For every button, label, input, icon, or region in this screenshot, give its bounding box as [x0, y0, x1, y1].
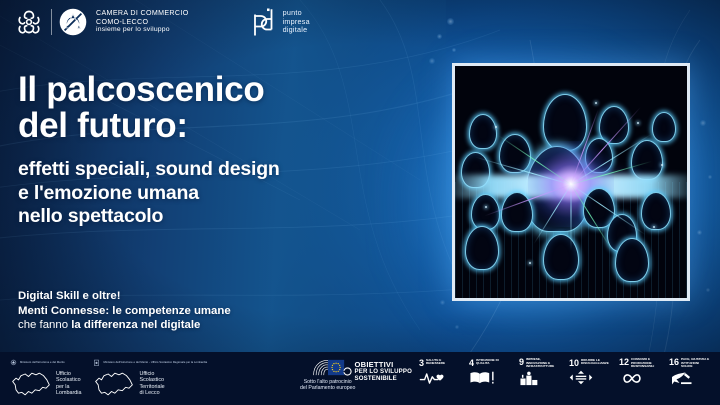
sdg-goal-3-title: SALUTE E BENESSERE [426, 359, 456, 366]
light-beam [571, 185, 572, 251]
silhouette-head [465, 226, 499, 270]
cciaa-line-3: insieme per lo sviluppo [96, 26, 189, 35]
usr-lecco-ministry-row: Ministero dell'Istruzione e del Merito -… [93, 359, 207, 368]
tagline-line-2: Menti Connesse: le competenze umane [18, 304, 231, 319]
usr-lecco-label: Ufficio Scolastico Territoriale di Lecco [139, 371, 164, 397]
tagline-block: Digital Skill e oltre! Menti Connesse: l… [18, 289, 231, 333]
usr-lombardia-body: Ufficio Scolastico per la Lombardia [10, 369, 81, 399]
sdg-goal-10-number: 10 [569, 359, 579, 368]
sdg-wordmark: OBIETTIVI PER LO SVILUPPO SOSTENIBILE [343, 361, 412, 382]
usr-lecco-label-4: di Lecco [139, 390, 164, 396]
tagline-line-3: che fanno la differenza nel digitale [18, 318, 231, 333]
connected-minds-artwork [452, 63, 690, 301]
cciaa-line-1: CAMERA DI COMMERCIO [96, 9, 189, 17]
usr-lombardia-label-4: Lombardia [56, 390, 81, 396]
footer-bar: Ministero dell'Istruzione e del Merito U… [0, 352, 720, 405]
sdg-goal-4-title: ISTRUZIONE DI QUALITA [476, 359, 506, 366]
footer-left-logos: Ministero dell'Istruzione e del Merito U… [0, 359, 207, 399]
silhouette-head [543, 234, 579, 280]
silhouette-head [469, 114, 497, 149]
open-book-icon [469, 370, 495, 385]
tagline-line-3-bold: la differenza nel digitale [71, 319, 200, 331]
sdg-goal-4: 4 ISTRUZIONE DI QUALITA [469, 359, 512, 385]
sdg-wordmark-text: OBIETTIVI PER LO SVILUPPO SOSTENIBILE [355, 361, 412, 382]
equals-arrows-icon [569, 370, 593, 385]
sdg-goal-16-title: PACE, GIUSTIZIA E ISTITUZIONI SOLIDE [681, 358, 711, 369]
punto-impresa-digitale-logo: punto impresa digitale [251, 7, 310, 37]
title-line-2: del futuro: [18, 108, 438, 144]
subtitle-line-3: nello spettacolo [18, 205, 438, 229]
sdg-word-3: SOSTENIBILE [355, 375, 412, 382]
sdg-goal-4-number: 4 [469, 359, 474, 368]
usr-lombardia-label-2: Scolastico [56, 377, 81, 383]
silhouette-head [615, 238, 649, 282]
sdg-word-1: OBIETTIVI [355, 361, 412, 368]
usr-lecco-label-3: Territoriale [139, 384, 164, 390]
logo-divider [51, 9, 52, 35]
sdg-goal-10-title: RIDURRE LE DISUGUAGLIANZE [581, 359, 611, 366]
silhouette-head [501, 192, 533, 232]
european-parliament-logo-icon [311, 358, 345, 377]
sdg-goal-9: 9 IMPRESE, INNOVAZIONE E INFRASTRUTTURE [519, 358, 562, 386]
sdg-block: OBIETTIVI PER LO SVILUPPO SOSTENIBILE 3 … [343, 358, 712, 386]
sdg-goal-16: 16 PACE, GIUSTIZIA E ISTITUZIONI SOLIDE [669, 358, 712, 386]
sdg-goal-3-number: 3 [419, 359, 424, 368]
ufficio-scolastico-lecco-logo: Ministero dell'Istruzione e del Merito -… [93, 359, 207, 399]
silhouette-head [652, 112, 676, 142]
sdg-goal-9-number: 9 [519, 358, 524, 367]
pid-monogram-icon [251, 7, 277, 37]
sdg-circle-icon [343, 367, 352, 376]
usr-lecco-label-2: Scolastico [139, 377, 164, 383]
header-logos: CAMERA DI COMMERCIO COMO-LECCO insieme p… [14, 7, 310, 37]
ep-caption-line-2: del Parlamento europeo [300, 385, 355, 391]
cciaa-knot-icon [14, 7, 44, 37]
usr-lecco-body: Ufficio Scolastico Territoriale di Lecco [93, 369, 207, 399]
main-text-block: Il palcoscenico del futuro: effetti spec… [18, 72, 438, 229]
page-title: Il palcoscenico del futuro: [18, 72, 438, 144]
cciaa-line-2: COMO-LECCO [96, 18, 189, 26]
usr-lombardia-label: Ufficio Scolastico per la Lombardia [56, 371, 81, 397]
como-lecco-shield-icon [59, 8, 87, 36]
usr-lecco-ministry: Ministero dell'Istruzione e del Merito -… [103, 361, 207, 364]
sdg-goal-9-title: IMPRESE, INNOVAZIONE E INFRASTRUTTURE [526, 358, 556, 369]
tagline-line-1: Digital Skill e oltre! [18, 289, 231, 304]
infinity-icon [619, 371, 645, 386]
camera-di-commercio-text: CAMERA DI COMMERCIO COMO-LECCO insieme p… [94, 9, 189, 34]
title-line-1: Il palcoscenico [18, 72, 438, 108]
ufficio-scolastico-lombardia-logo: Ministero dell'Istruzione e del Merito U… [10, 359, 81, 399]
silhouette-head [641, 192, 671, 230]
sdg-goal-12-title: CONSUMO E PRODUZIONE RESPONSABILI [631, 358, 661, 369]
sdg-goal-10: 10 RIDURRE LE DISUGUAGLIANZE [569, 359, 612, 385]
sdg-word-2: PER LO SVILUPPO [355, 368, 412, 375]
subtitle-line-1: effetti speciali, sound design [18, 158, 438, 182]
camera-di-commercio-logo: CAMERA DI COMMERCIO COMO-LECCO insieme p… [14, 7, 189, 37]
usr-lombardia-ministry: Ministero dell'Istruzione e del Merito [20, 361, 65, 364]
pid-text: punto impresa digitale [283, 9, 310, 35]
sdg-goal-12-number: 12 [619, 358, 629, 367]
subtitle-line-2: e l'emozione umana [18, 182, 438, 206]
sdg-goal-16-number: 16 [669, 358, 679, 367]
artwork-canvas [455, 66, 687, 298]
sdg-goal-3: 3 SALUTE E BENESSERE [419, 359, 462, 385]
lombardia-map-icon [93, 369, 135, 399]
dove-gavel-icon [669, 371, 693, 386]
tagline-line-3-plain: che fanno [18, 319, 71, 331]
pid-line-3: digitale [283, 26, 310, 35]
heartbeat-icon [419, 370, 447, 385]
usr-lombardia-ministry-row: Ministero dell'Istruzione e del Merito [10, 359, 81, 368]
italian-republic-emblem-icon [93, 359, 100, 368]
industry-icon [519, 371, 541, 386]
page-subtitle: effetti speciali, sound design e l'emozi… [18, 158, 438, 229]
event-poster: CAMERA DI COMMERCIO COMO-LECCO insieme p… [0, 0, 720, 405]
lombardia-map-icon [10, 369, 52, 399]
italian-republic-emblem-icon [10, 359, 17, 368]
sdg-goal-12: 12 CONSUMO E PRODUZIONE RESPONSABILI [619, 358, 662, 386]
